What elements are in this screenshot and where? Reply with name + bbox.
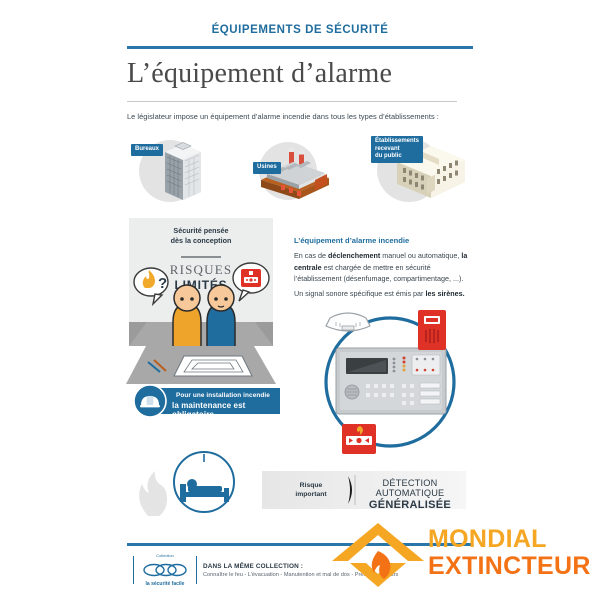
maintenance-banner: Pour une installation incendie la mainte… (150, 388, 280, 414)
page-kicker: ÉQUIPEMENTS DE SÉCURITÉ (0, 24, 600, 36)
building-item: Usines (237, 140, 355, 202)
detection-bar: Risque important DÉTECTION AUTOMATIQUE G… (262, 471, 466, 509)
alarm-text-paragraph-1: En cas de déclenchement manuel ou automa… (294, 250, 470, 285)
building-tag-bureaux: Bureaux (131, 144, 163, 156)
flame-diamond-logo (330, 521, 426, 600)
conception-panel: Sécurité pensée dès la conception RISQUE… (129, 218, 273, 346)
worker-right (207, 285, 235, 346)
worker-left (173, 285, 201, 346)
alarm-text-paragraph-2: Un signal sonore spécifique est émis par… (294, 288, 470, 300)
alarm-system-diagram (298, 300, 488, 465)
risk-line-1: Risque (300, 482, 323, 489)
detection-statement: DÉTECTION AUTOMATIQUE GÉNÉRALISÉE (358, 478, 462, 511)
maintenance-line-1: Pour une installation incendie (176, 392, 270, 399)
p2-bold-sirenes: les sirènes. (425, 289, 464, 298)
maintenance-line-2: la maintenance est obligatoire (172, 401, 280, 419)
watermark-line-1: MONDIAL (428, 527, 591, 552)
bed-flame-detector-icon (128, 448, 268, 518)
arrow-separator-icon (346, 475, 358, 505)
fire-alarm-control-panel (336, 348, 446, 414)
building-item: Bureaux (125, 136, 235, 202)
alarm-text-heading: L’équipement d’alarme incendie (294, 236, 409, 245)
title-underline (127, 101, 457, 102)
fire-siren-icon (418, 310, 446, 350)
building-tag-erp: Établissements recevant du public (371, 136, 423, 163)
manual-call-point-icon (342, 424, 376, 454)
plans-table (126, 340, 276, 390)
watermark-text: MONDIAL EXTINCTEUR (428, 527, 591, 579)
chain-links-icon (142, 563, 188, 577)
smoke-detector-icon (326, 313, 370, 331)
collection-logo: Collection la sécurité facile (133, 556, 197, 584)
watermark-line-2: EXTINCTEUR (428, 554, 591, 579)
p1-mid: manuel ou automatique, (380, 251, 461, 260)
risk-label: Risque important (280, 481, 342, 499)
intro-text: Le législateur impose un équipement d’al… (127, 112, 477, 121)
detection-line-2: GÉNÉRALISÉE (358, 499, 462, 511)
p1-before: En cas de (294, 251, 328, 260)
risk-line-2: important (295, 491, 326, 498)
safety-helmet-icon (133, 384, 167, 418)
p2-before: Un signal sonore spécifique est émis par (294, 289, 425, 298)
building-tag-usines: Usines (253, 162, 281, 174)
building-types-row: Bureaux (125, 130, 480, 202)
mondial-extincteur-watermark: MONDIAL EXTINCTEUR (330, 521, 600, 600)
p1-bold-declenchement: déclenchement (328, 251, 380, 260)
poster-page: ÉQUIPEMENTS DE SÉCURITÉ L’équipement d’a… (0, 0, 600, 600)
collection-name: la sécurité facile (134, 581, 196, 587)
collection-caption: Collection (134, 553, 196, 558)
svg-text:?: ? (158, 275, 167, 292)
alarm-call-point-icon (233, 263, 269, 301)
detection-line-1: DÉTECTION AUTOMATIQUE (358, 478, 462, 498)
flame-question-icon: ? (134, 268, 168, 304)
building-item: Établissements recevant du public (353, 132, 481, 202)
page-title: L’équipement d’alarme (127, 58, 392, 90)
footer-heading: DANS LA MÊME COLLECTION : (203, 563, 303, 570)
conception-scene: ? (129, 218, 273, 346)
header-rule (127, 46, 473, 49)
